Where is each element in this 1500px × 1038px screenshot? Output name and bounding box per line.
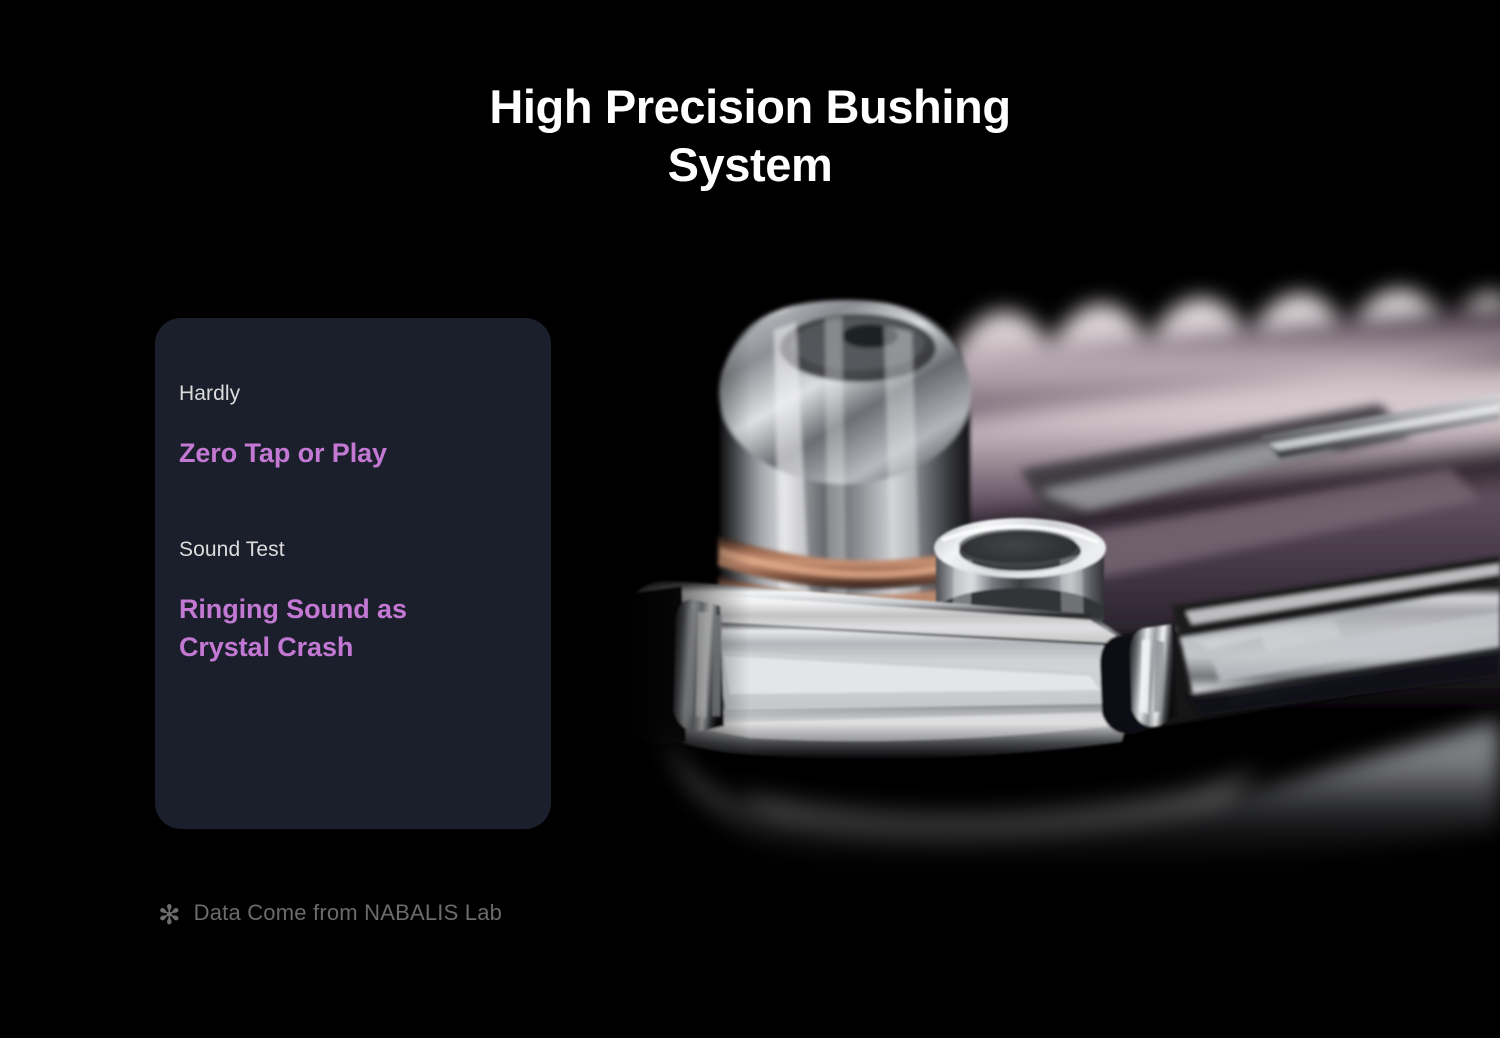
spec-label-hardly: Hardly [179, 380, 531, 408]
page-title: High Precision Bushing System [0, 78, 1500, 194]
spec-group-sound-test: Sound Test Ringing Sound as Crystal Cras… [179, 536, 531, 666]
spec-label-sound-test: Sound Test [179, 536, 531, 564]
page-title-line-1: High Precision Bushing [0, 78, 1500, 136]
spec-card-content: Hardly Zero Tap or Play Sound Test Ringi… [179, 380, 531, 666]
spec-group-hardly: Hardly Zero Tap or Play [179, 380, 531, 472]
spec-value-hardly: Zero Tap or Play [179, 434, 479, 472]
spec-value-sound-test: Ringing Sound as Crystal Crash [179, 590, 479, 666]
spec-card: Hardly Zero Tap or Play Sound Test Ringi… [155, 318, 551, 829]
page-title-line-2: System [0, 136, 1500, 194]
footnote: ✻ Data Come from NABALIS Lab [158, 898, 502, 928]
footnote-text: Data Come from NABALIS Lab [194, 898, 502, 928]
asterisk-icon: ✻ [158, 900, 181, 930]
